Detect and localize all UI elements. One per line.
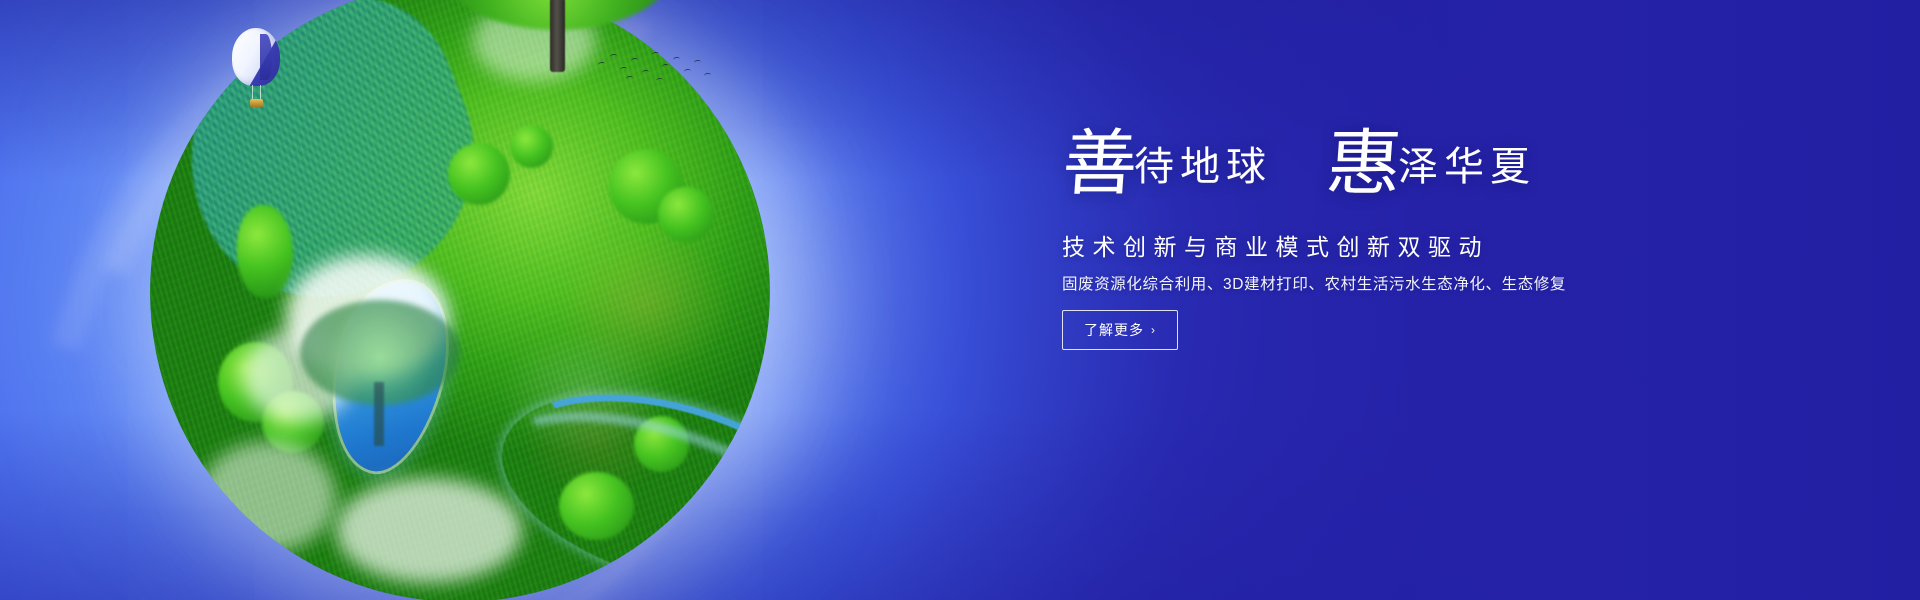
tree-icon bbox=[300, 300, 460, 450]
balloon-basket bbox=[250, 99, 263, 107]
balloon-rope bbox=[260, 85, 261, 100]
headline-small-chars-1: 待地球 bbox=[1134, 147, 1272, 187]
hero-content: 善待地球惠泽华夏 技术创新与商业模式创新双驱动 固废资源化综合利用、3D建材打印… bbox=[1060, 0, 1760, 600]
page-title: 善待地球惠泽华夏 bbox=[1060, 128, 1536, 200]
learn-more-label: 了解更多 bbox=[1084, 320, 1144, 340]
bird-flock-icon bbox=[596, 48, 714, 84]
hero-banner: 善待地球惠泽华夏 技术创新与商业模式创新双驱动 固废资源化综合利用、3D建材打印… bbox=[0, 0, 1920, 600]
surface-cloud bbox=[200, 441, 336, 553]
learn-more-button[interactable]: 了解更多 › bbox=[1062, 310, 1178, 350]
headline-big-char-2: 惠 bbox=[1324, 128, 1402, 200]
chevron-right-icon: › bbox=[1151, 323, 1156, 337]
headline-big-char-1: 善 bbox=[1060, 128, 1138, 200]
hero-subtitle: 技术创新与商业模式创新双驱动 bbox=[1062, 228, 1489, 262]
tree-clump bbox=[448, 143, 510, 205]
tree-clump bbox=[237, 205, 293, 298]
hero-description: 固废资源化综合利用、3D建材打印、农村生活污水生态净化、生态修复 bbox=[1062, 272, 1566, 294]
hot-air-balloon-icon bbox=[232, 28, 280, 112]
balloon-rope bbox=[252, 85, 253, 100]
tree-clump bbox=[510, 125, 553, 168]
balloon-envelope bbox=[232, 28, 280, 86]
tree-trunk bbox=[550, 0, 565, 72]
tree-trunk bbox=[374, 382, 384, 446]
headline-small-chars-2: 泽华夏 bbox=[1398, 147, 1536, 187]
tree-clump bbox=[658, 187, 714, 243]
surface-cloud bbox=[336, 478, 522, 583]
